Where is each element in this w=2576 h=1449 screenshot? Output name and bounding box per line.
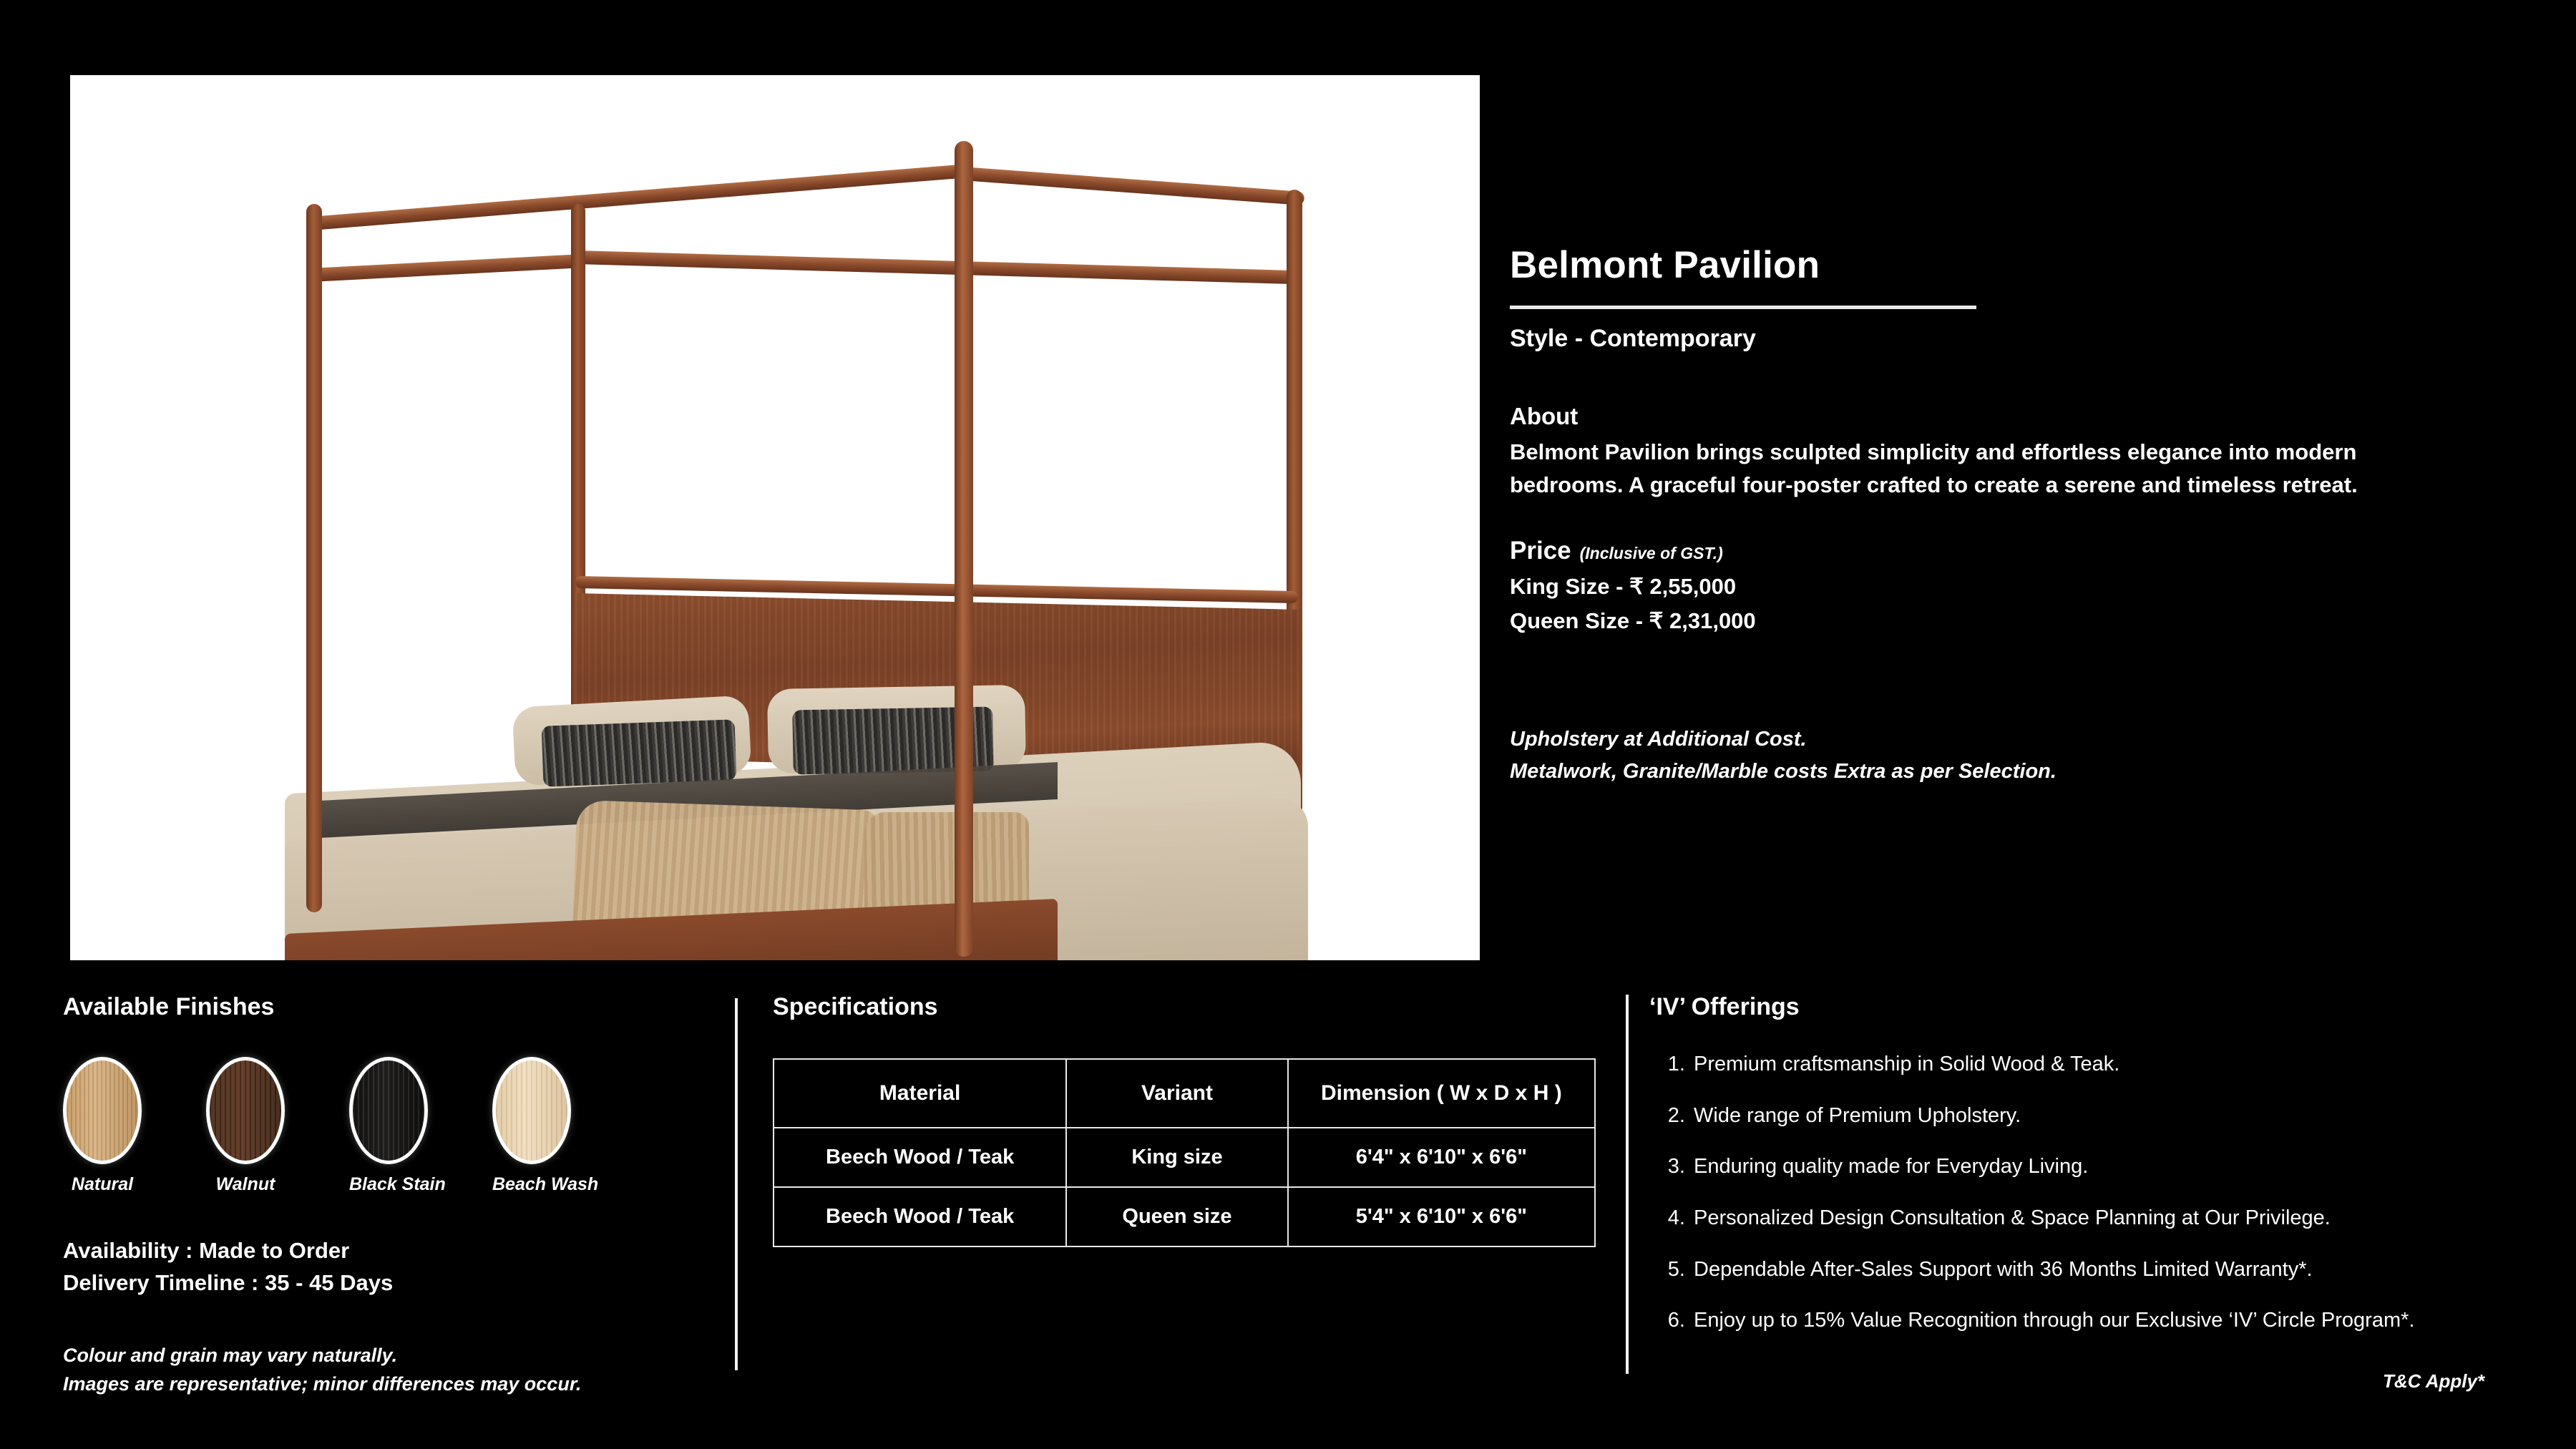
table-header-row: Material Variant Dimension ( W x D x H ) (774, 1059, 1595, 1128)
terms-and-conditions: T&C Apply* (2383, 1370, 2484, 1392)
table-row: Beech Wood / Teak King size 6'4" x 6'10"… (774, 1128, 1595, 1187)
about-heading: About (1510, 403, 2526, 430)
product-info: Belmont Pavilion Style - Contemporary Ab… (1510, 243, 2526, 788)
finish-option-black-stain[interactable]: Black Stain (349, 1057, 428, 1195)
swatch-black-stain[interactable] (349, 1057, 428, 1164)
list-item: Premium craftsmanship in Solid Wood & Te… (1691, 1051, 2544, 1078)
price-queen: Queen Size - ₹ 2,31,000 (1510, 608, 2526, 634)
section-divider-right (1626, 995, 1629, 1374)
product-style: Style - Contemporary (1510, 325, 2526, 353)
list-item: Personalized Design Consultation & Space… (1691, 1205, 2544, 1232)
metalwork-note: Metalwork, Granite/Marble costs Extra as… (1510, 756, 2526, 788)
list-item: Enduring quality made for Everyday Livin… (1691, 1153, 2544, 1181)
canopy-rail-mid-left (311, 254, 582, 282)
swatch-walnut[interactable] (206, 1057, 285, 1164)
availability-text: Availability : Made to Order (63, 1235, 714, 1267)
price-gst-note: (Inclusive of GST.) (1580, 544, 1723, 563)
canopy-rail-top-left (310, 164, 967, 230)
bed-post-front-right (955, 141, 973, 957)
specifications-table: Material Variant Dimension ( W x D x H )… (773, 1058, 1596, 1247)
cell-material-queen: Beech Wood / Teak (774, 1187, 1066, 1246)
offerings-heading: ‘IV’ Offerings (1649, 993, 2544, 1021)
section-divider-left (735, 998, 738, 1370)
table-row: Beech Wood / Teak Queen size 5'4" x 6'10… (774, 1187, 1595, 1246)
cell-dimension-king: 6'4" x 6'10" x 6'6" (1288, 1128, 1595, 1187)
canopy-rail-mid-right (575, 250, 1298, 284)
finish-disclaimer: Colour and grain may vary naturally. Ima… (63, 1341, 714, 1399)
four-poster-bed-image (70, 75, 1480, 960)
price-heading-row: Price (Inclusive of GST.) (1510, 537, 2526, 565)
page-title: Belmont Pavilion (1510, 243, 2526, 287)
specifications-section: Specifications Material Variant Dimensio… (773, 993, 1596, 1247)
swatch-label-beach-wash: Beach Wash (492, 1174, 571, 1195)
finish-option-natural[interactable]: Natural (63, 1057, 142, 1195)
product-catalog-page: Belmont Pavilion Style - Contemporary Ab… (0, 0, 2576, 1449)
available-finishes-section: Available Finishes Natural Walnut Black … (63, 993, 714, 1399)
offerings-list: Premium craftsmanship in Solid Wood & Te… (1649, 1051, 2544, 1335)
bed-post-front-left (306, 204, 322, 912)
swatch-label-natural: Natural (63, 1174, 142, 1195)
finish-option-walnut[interactable]: Walnut (206, 1057, 285, 1195)
cell-material-king: Beech Wood / Teak (774, 1128, 1066, 1187)
colour-variance-note: Colour and grain may vary naturally. (63, 1341, 714, 1370)
column-header-dimension: Dimension ( W x D x H ) (1288, 1059, 1595, 1128)
upholstery-note: Upholstery at Additional Cost. (1510, 723, 2526, 756)
swatch-beach-wash[interactable] (492, 1057, 571, 1164)
swatch-label-walnut: Walnut (206, 1174, 285, 1195)
finish-swatch-row: Natural Walnut Black Stain Beach Wash (63, 1057, 714, 1195)
product-image-panel (70, 75, 1480, 960)
title-divider (1510, 306, 1976, 309)
finishes-heading: Available Finishes (63, 993, 714, 1021)
swatch-label-black-stain: Black Stain (349, 1174, 428, 1195)
canopy-rail-top-right (961, 167, 1304, 205)
swatch-natural[interactable] (63, 1057, 142, 1164)
list-item: Enjoy up to 15% Value Recognition throug… (1691, 1307, 2544, 1335)
delivery-timeline-text: Delivery Timeline : 35 - 45 Days (63, 1267, 714, 1299)
representative-image-note: Images are representative; minor differe… (63, 1370, 714, 1399)
cell-variant-queen: Queen size (1066, 1187, 1287, 1246)
striped-cushion-left (542, 719, 737, 786)
list-item: Dependable After-Sales Support with 36 M… (1691, 1257, 2544, 1284)
list-item: Wide range of Premium Upholstery. (1691, 1103, 2544, 1130)
column-header-variant: Variant (1066, 1059, 1287, 1128)
cell-dimension-queen: 5'4" x 6'10" x 6'6" (1288, 1187, 1595, 1246)
price-label: Price (1510, 537, 1571, 565)
extra-cost-notes: Upholstery at Additional Cost. Metalwork… (1510, 723, 2526, 788)
price-king: King Size - ₹ 2,55,000 (1510, 574, 2526, 600)
specifications-heading: Specifications (773, 993, 1596, 1021)
cell-variant-king: King size (1066, 1128, 1287, 1187)
about-text: Belmont Pavilion brings sculpted simplic… (1510, 436, 2462, 501)
iv-offerings-section: ‘IV’ Offerings Premium craftsmanship in … (1649, 993, 2544, 1359)
availability-block: Availability : Made to Order Delivery Ti… (63, 1235, 714, 1299)
finish-option-beach-wash[interactable]: Beach Wash (492, 1057, 571, 1195)
column-header-material: Material (774, 1059, 1066, 1128)
